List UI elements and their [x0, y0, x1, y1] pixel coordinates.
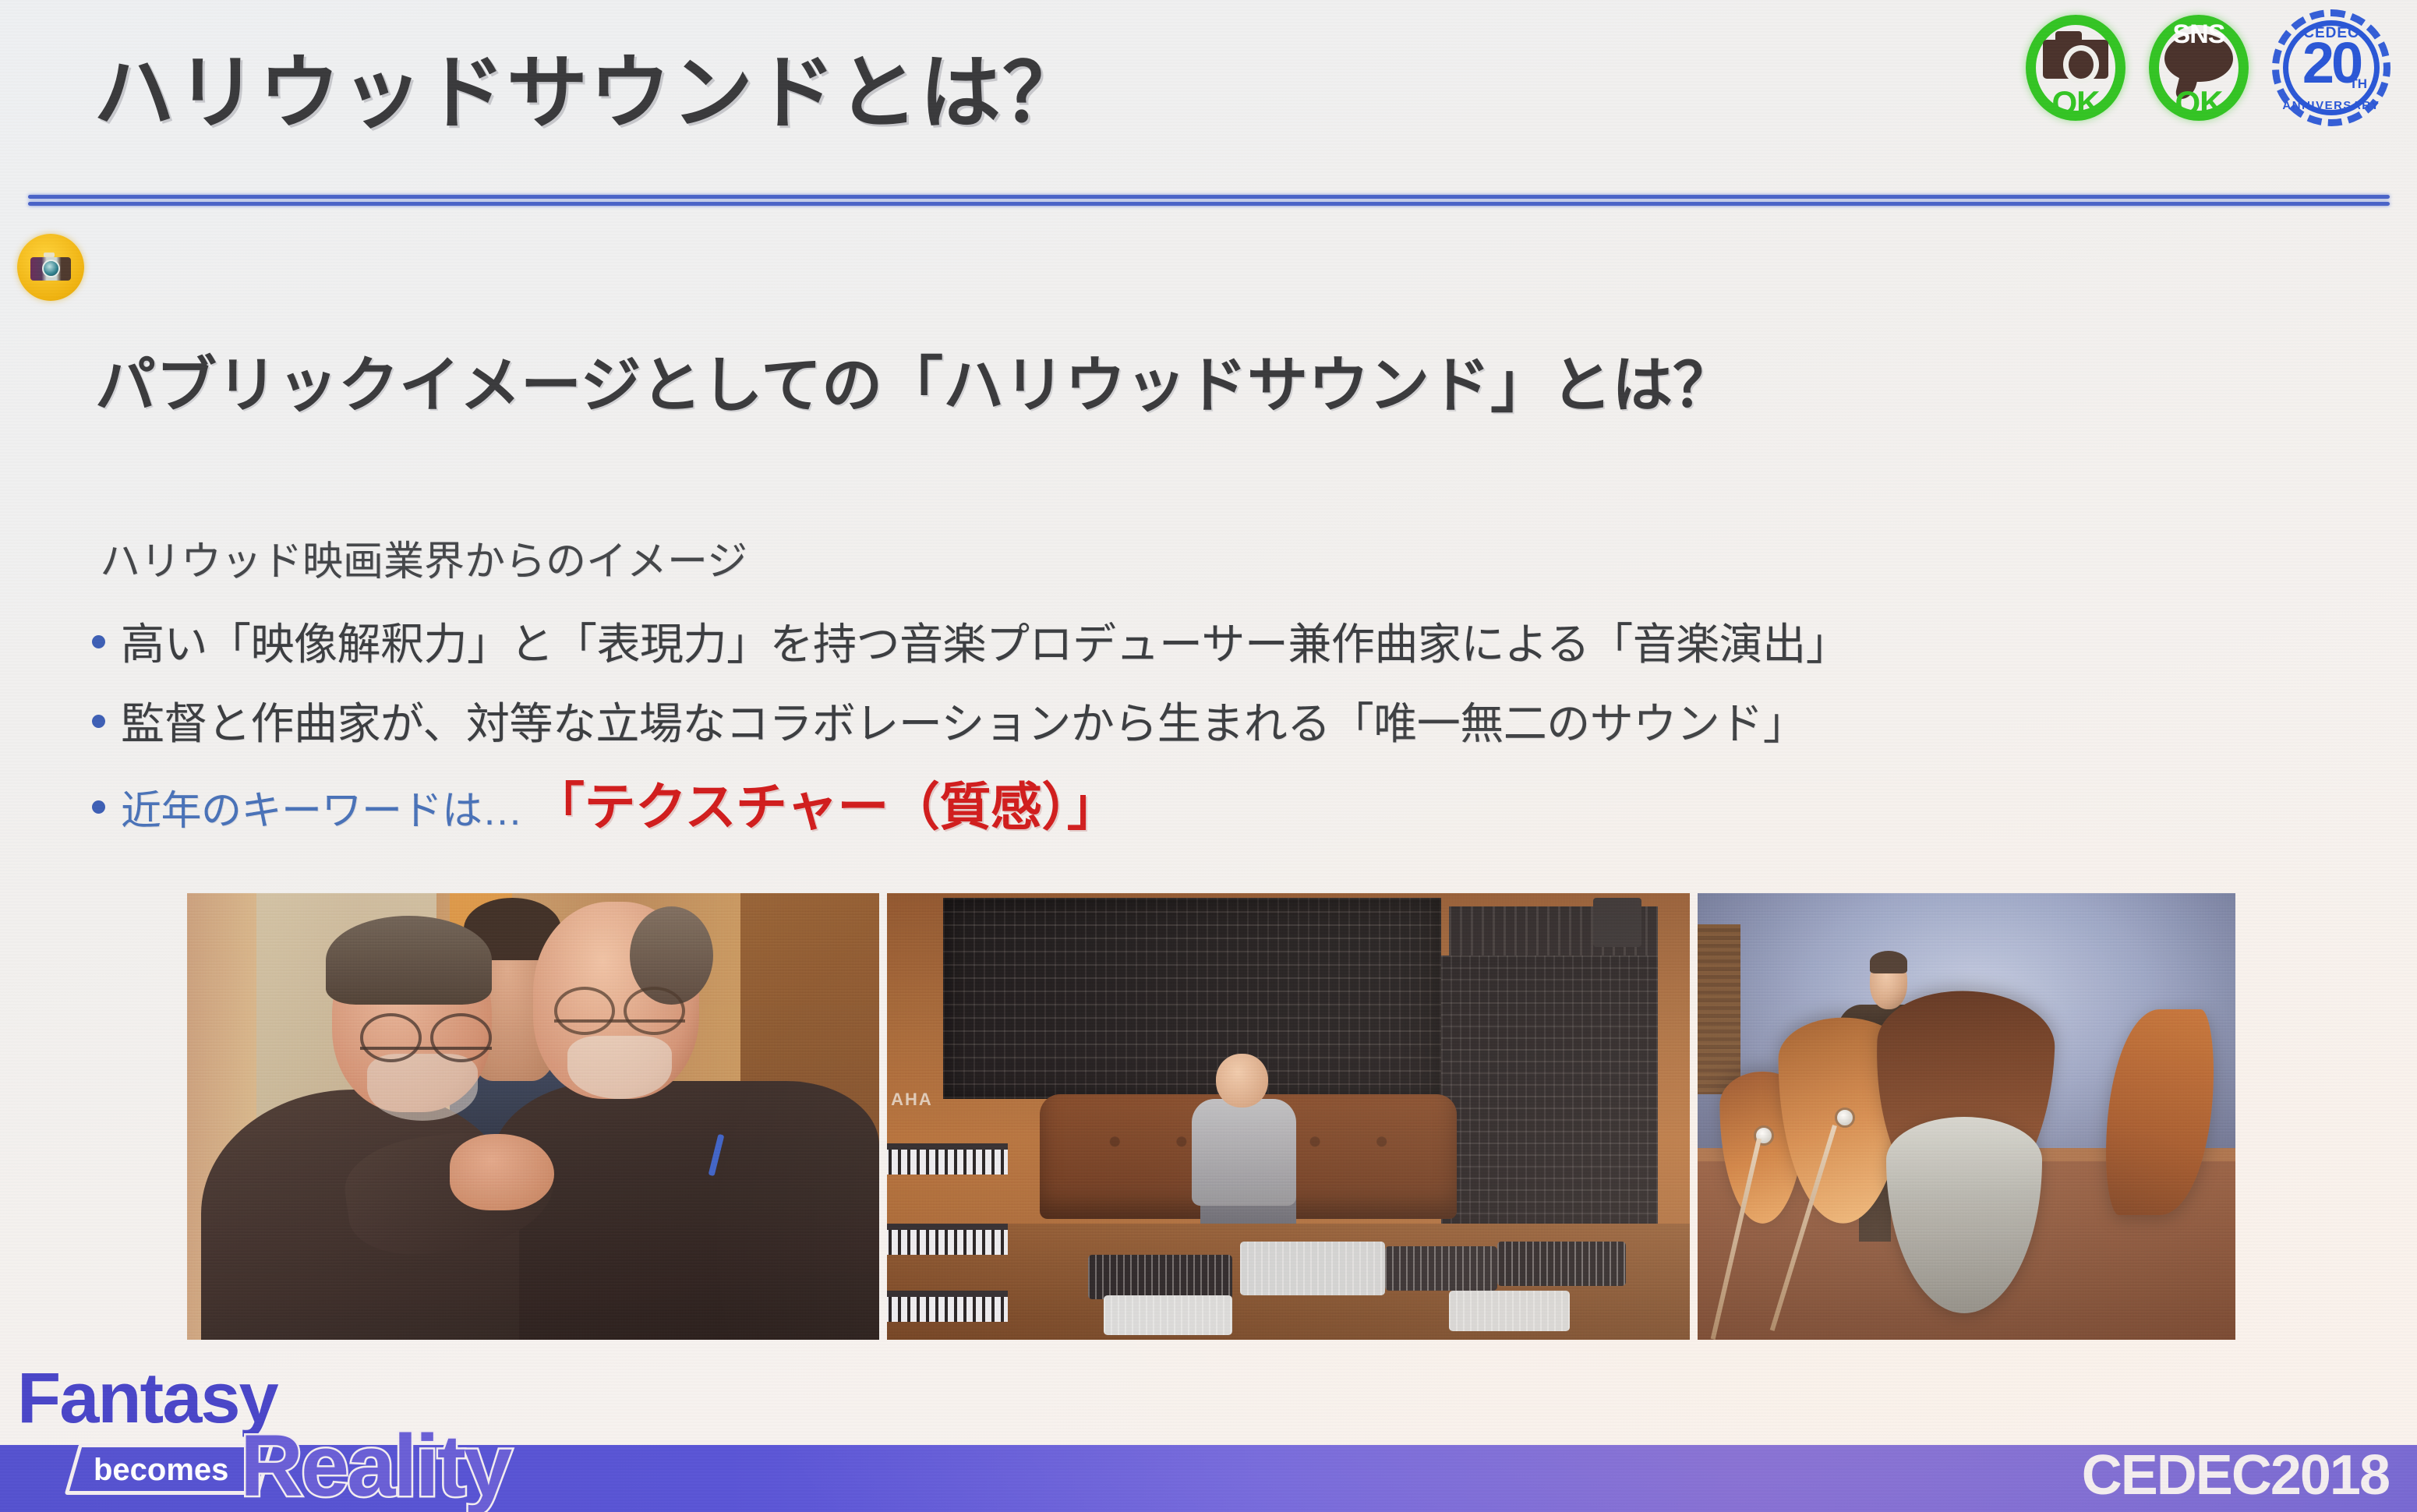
bullet-emphasis-text: 「テクスチャー（質感）」 [533, 765, 1118, 840]
slide-title: ハリウッドサウンドとは？ [94, 26, 1085, 144]
photo-allowed-chip [17, 234, 84, 301]
anniversary-caption: ANNIVERSARY [2272, 99, 2390, 112]
camera-icon [2043, 40, 2108, 79]
list-item: 高い「映像解釈力」と「表現力」を持つ音楽プロデューサー兼作曲家による「音楽演出」 [92, 609, 1849, 673]
lead-text: ハリウッド映画業界からのイメージ [100, 528, 747, 587]
cedec-2018-wordmark: CEDEC2018 [2082, 1443, 2389, 1507]
bullet-dot-icon [92, 715, 105, 728]
photo-strip: AHA [187, 893, 2235, 1340]
logo-word-becomes: becomes [94, 1453, 228, 1488]
photo-modular-synth-studio: AHA [887, 893, 1690, 1340]
divider-line-top [28, 195, 2390, 199]
bullet-dot-icon [92, 800, 105, 814]
section-heading: パブリックイメージとしての「ハリウッドサウンド」とは？ [95, 337, 1733, 424]
anniversary-ordinal: TH [2349, 76, 2367, 92]
list-item: 近年のキーワードは… 「テクスチャー（質感）」 [92, 765, 1118, 840]
logo-word-fantasy: Fantasy [17, 1358, 277, 1440]
bullet-text: 近年のキーワードは… [121, 778, 522, 836]
cedec-20th-anniversary-badge: CEDEC 20 TH ANNIVERSARY [2272, 9, 2390, 126]
badge-group: OK SNS OK CEDEC 20 TH ANNIVERSARY [2026, 9, 2390, 126]
photo-director-and-composer [187, 893, 879, 1340]
photo-sound-sculptures [1698, 893, 2235, 1340]
bullet-dot-icon [92, 635, 105, 648]
fantasy-becomes-reality-logo: Fantasy Reality becomes [12, 1358, 511, 1506]
camera-ok-badge: OK [2026, 15, 2125, 121]
sns-label: SNS [2149, 19, 2249, 50]
camera-lens-icon [42, 260, 60, 277]
camera-flash-icon [44, 253, 55, 257]
list-item: 監督と作曲家が、対等な立場なコラボレーションから生まれる「唯一無二のサウンド」 [92, 689, 1806, 752]
sns-ok-label: OK [2149, 87, 2249, 119]
yamaha-branding-text: AHA [891, 1090, 933, 1110]
divider-line-bottom [28, 202, 2390, 206]
presentation-slide: ハリウッドサウンドとは？ OK SNS OK CEDEC 20 TH ANNIV… [0, 0, 2417, 1512]
sns-ok-badge: SNS OK [2149, 15, 2249, 121]
title-divider-rule [28, 195, 2390, 205]
camera-ok-label: OK [2026, 87, 2125, 119]
logo-word-reality: Reality [240, 1415, 510, 1512]
bullet-text: 監督と作曲家が、対等な立場なコラボレーションから生まれる「唯一無二のサウンド」 [121, 689, 1806, 752]
anniversary-number: 20 [2272, 36, 2390, 90]
bullet-text: 高い「映像解釈力」と「表現力」を持つ音楽プロデューサー兼作曲家による「音楽演出」 [121, 609, 1849, 673]
